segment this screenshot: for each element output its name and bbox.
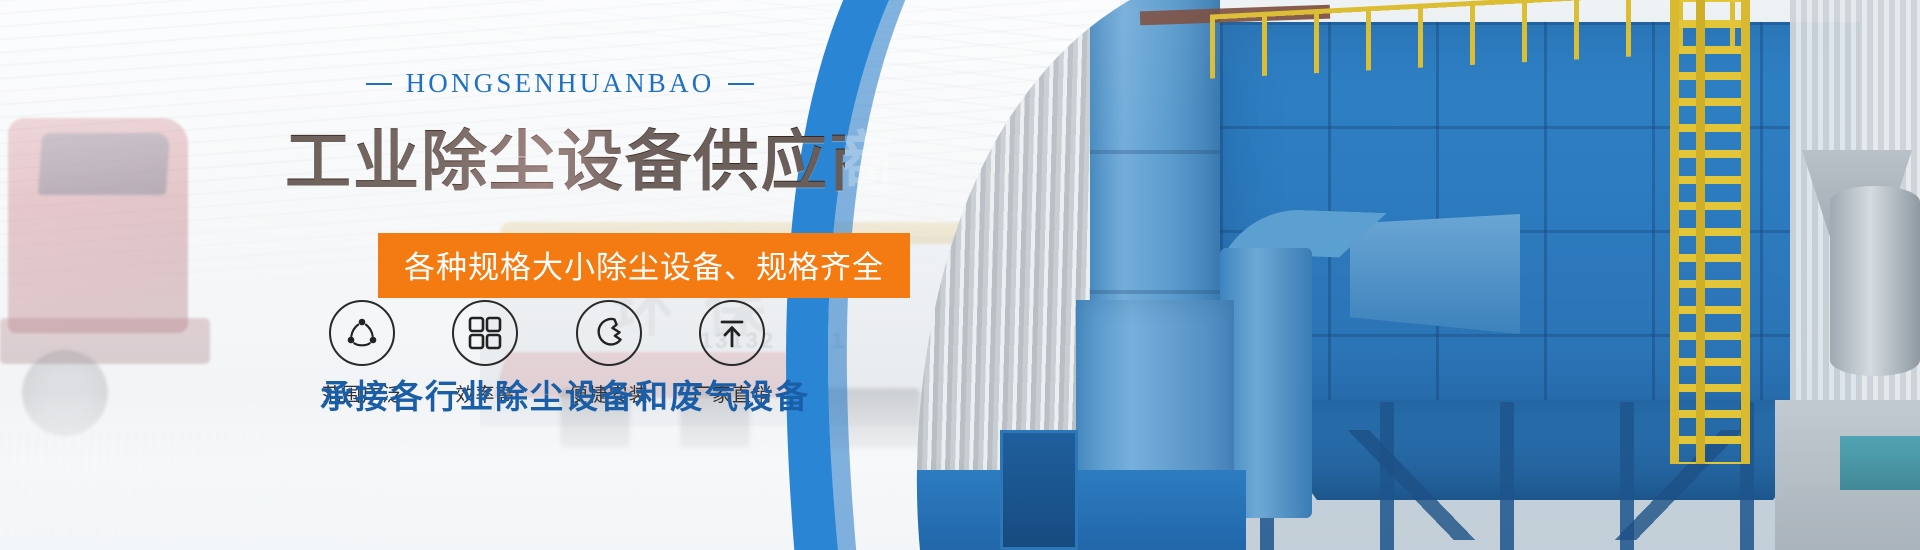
- plant-cylinder: [1830, 186, 1920, 376]
- support-brace-left: [1290, 430, 1540, 540]
- grid-squares-icon: [452, 300, 518, 366]
- wrench-icon: [576, 300, 642, 366]
- tagline-text: 承接各行业除尘设备和废气设备: [285, 370, 845, 418]
- arrow-up-icon: [699, 300, 765, 366]
- dash-right-icon: [728, 83, 754, 85]
- page-title: 工业除尘设备供应商: [285, 108, 845, 204]
- eyebrow-pinyin: HONGSENHUANBAO: [340, 68, 780, 99]
- yellow-ladder-cage: [1670, 0, 1750, 464]
- hero-content: HONGSENHUANBAO 工业除尘设备供应商 各种规格大小除尘设备、规格齐全: [0, 0, 1120, 550]
- network-dots-icon: [329, 300, 395, 366]
- ladder-rail: [1696, 0, 1705, 464]
- subtitle-orange-banner: 各种规格大小除尘设备、规格齐全: [378, 233, 910, 298]
- eyebrow-text: HONGSENHUANBAO: [406, 68, 715, 99]
- dash-left-icon: [366, 83, 392, 85]
- plant-teal-panel: [1840, 436, 1920, 490]
- hero-banner: 环保 13132 7001: [0, 0, 1920, 550]
